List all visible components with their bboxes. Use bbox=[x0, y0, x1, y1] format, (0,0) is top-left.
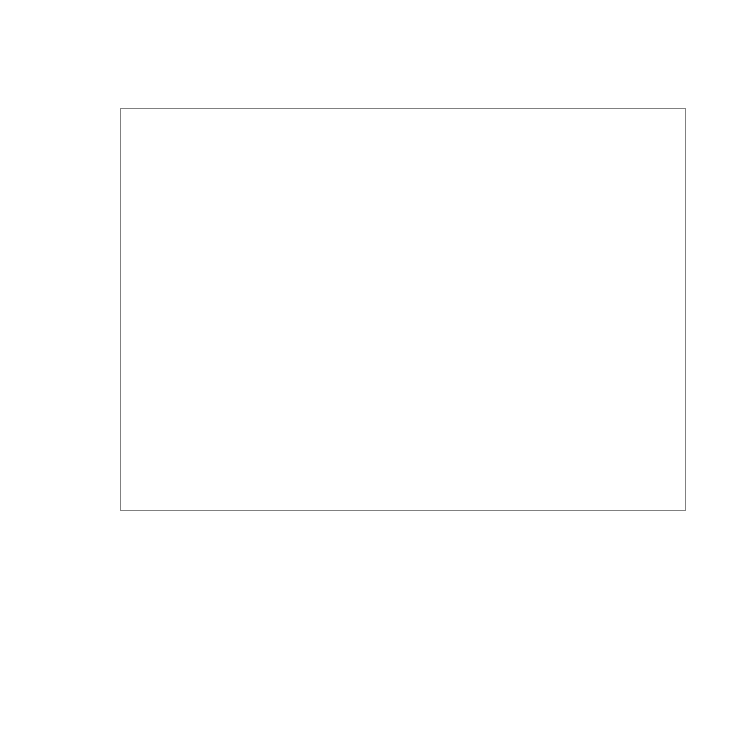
conservation-chart-page bbox=[0, 0, 750, 750]
plot-panel[interactable] bbox=[120, 108, 686, 511]
scatter-plot-svg bbox=[121, 109, 684, 509]
y-axis-label bbox=[27, 108, 53, 512]
